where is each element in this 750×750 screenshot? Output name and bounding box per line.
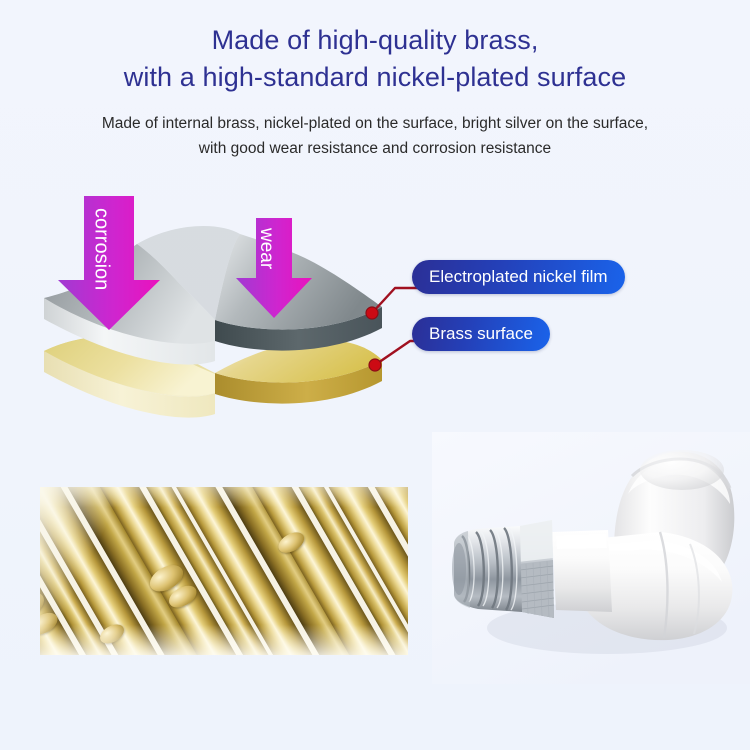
infographic-page: Made of high-quality brass, with a high-… [0,0,750,750]
page-subtitle: Made of internal brass, nickel-plated on… [0,111,750,161]
anchor-dot-nickel [366,307,378,319]
wear-arrow-label: wear [256,227,277,270]
brass-rods-photo [40,487,408,655]
callout-brass-surface[interactable]: Brass surface [412,317,550,351]
corrosion-arrow-label: corrosion [90,208,112,290]
photo-edge-fade [40,487,408,655]
threaded-male-end [452,526,522,612]
fitting-white-barrel [552,530,612,612]
layer-structure-diagram: corrosion wear [0,178,750,428]
callout-electroplated-nickel-film[interactable]: Electroplated nickel film [412,260,625,294]
title-line-2: with a high-standard nickel-plated surfa… [0,59,750,96]
anchor-dot-brass [369,359,381,371]
pneumatic-elbow-fitting-photo [432,432,750,684]
page-title: Made of high-quality brass, with a high-… [0,22,750,96]
title-line-1: Made of high-quality brass, [0,22,750,59]
subtitle-line-2: with good wear resistance and corrosion … [0,136,750,161]
header: Made of high-quality brass, with a high-… [0,0,750,161]
subtitle-line-1: Made of internal brass, nickel-plated on… [0,111,750,136]
